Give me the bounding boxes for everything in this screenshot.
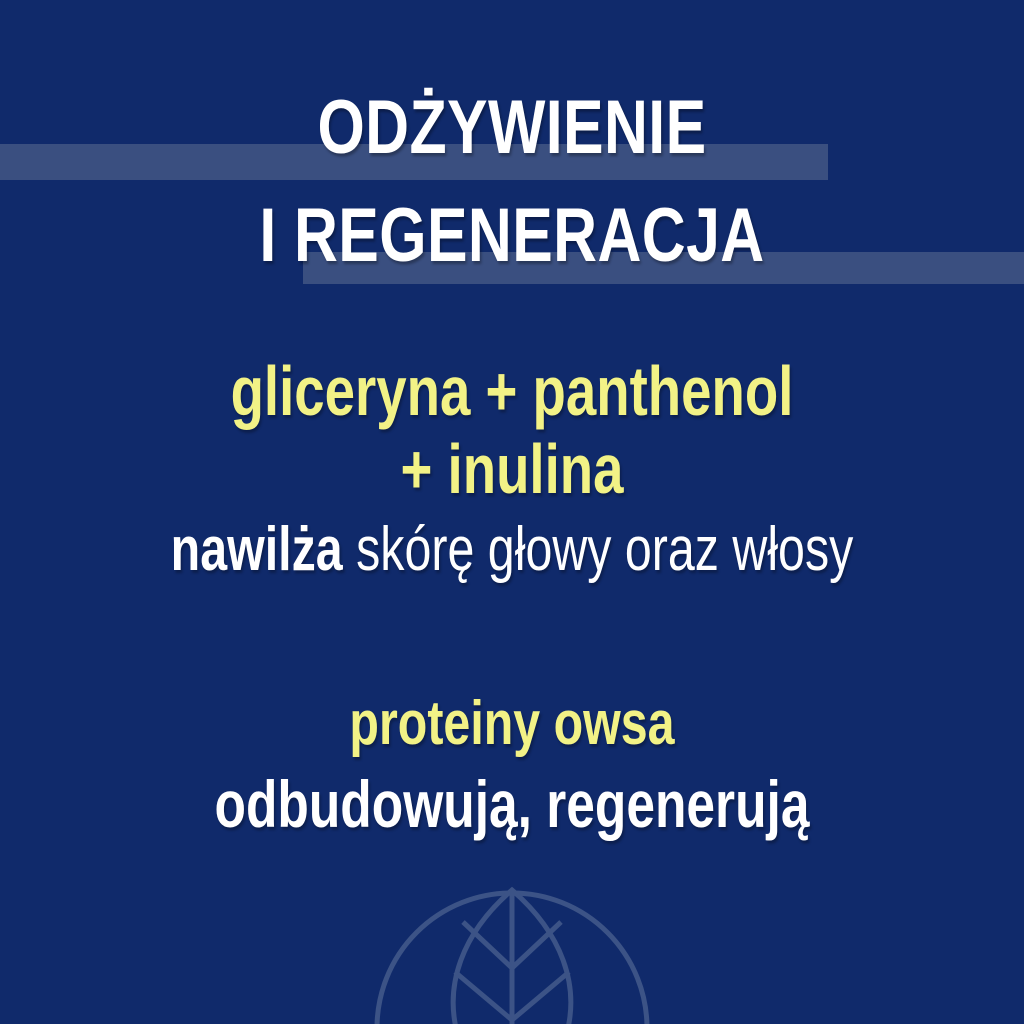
emblem-leaf-vein-left-1 xyxy=(463,922,512,968)
emblem-circle-outline xyxy=(377,893,647,1024)
poster-canvas: ODŻYWIENIE I REGENERACJA gliceryna + pan… xyxy=(0,0,1024,1024)
hydration-actives-line-2: + inulina xyxy=(113,430,912,508)
hydration-actives-line-1: gliceryna + panthenol xyxy=(113,352,912,430)
leaf-emblem xyxy=(367,880,657,1024)
page-title: ODŻYWIENIE I REGENERACJA xyxy=(102,86,921,278)
page-title-line-1: ODŻYWIENIE xyxy=(102,86,921,170)
repair-actives-line: proteiny owsa xyxy=(113,688,912,760)
repair-benefit-line: odbudowują, regenerują xyxy=(113,766,912,842)
emblem-central-leaf xyxy=(453,890,571,1024)
hydration-benefit-rest: skórę głowy oraz włosy xyxy=(343,515,854,584)
page-title-line-2: I REGENERACJA xyxy=(102,194,921,278)
hydration-benefit-line: nawilża skórę głowy oraz włosy xyxy=(113,514,912,586)
emblem-leaf-vein-right-2 xyxy=(512,972,569,1020)
emblem-leaf-vein-right-1 xyxy=(512,922,561,968)
repair-copy-block: proteiny owsa odbudowują, regenerują xyxy=(0,688,1024,842)
hydration-benefit-emphasis: nawilża xyxy=(171,515,343,584)
emblem-leaf-vein-left-2 xyxy=(455,972,512,1020)
hydration-copy-block: gliceryna + panthenol + inulina nawilża … xyxy=(0,352,1024,586)
